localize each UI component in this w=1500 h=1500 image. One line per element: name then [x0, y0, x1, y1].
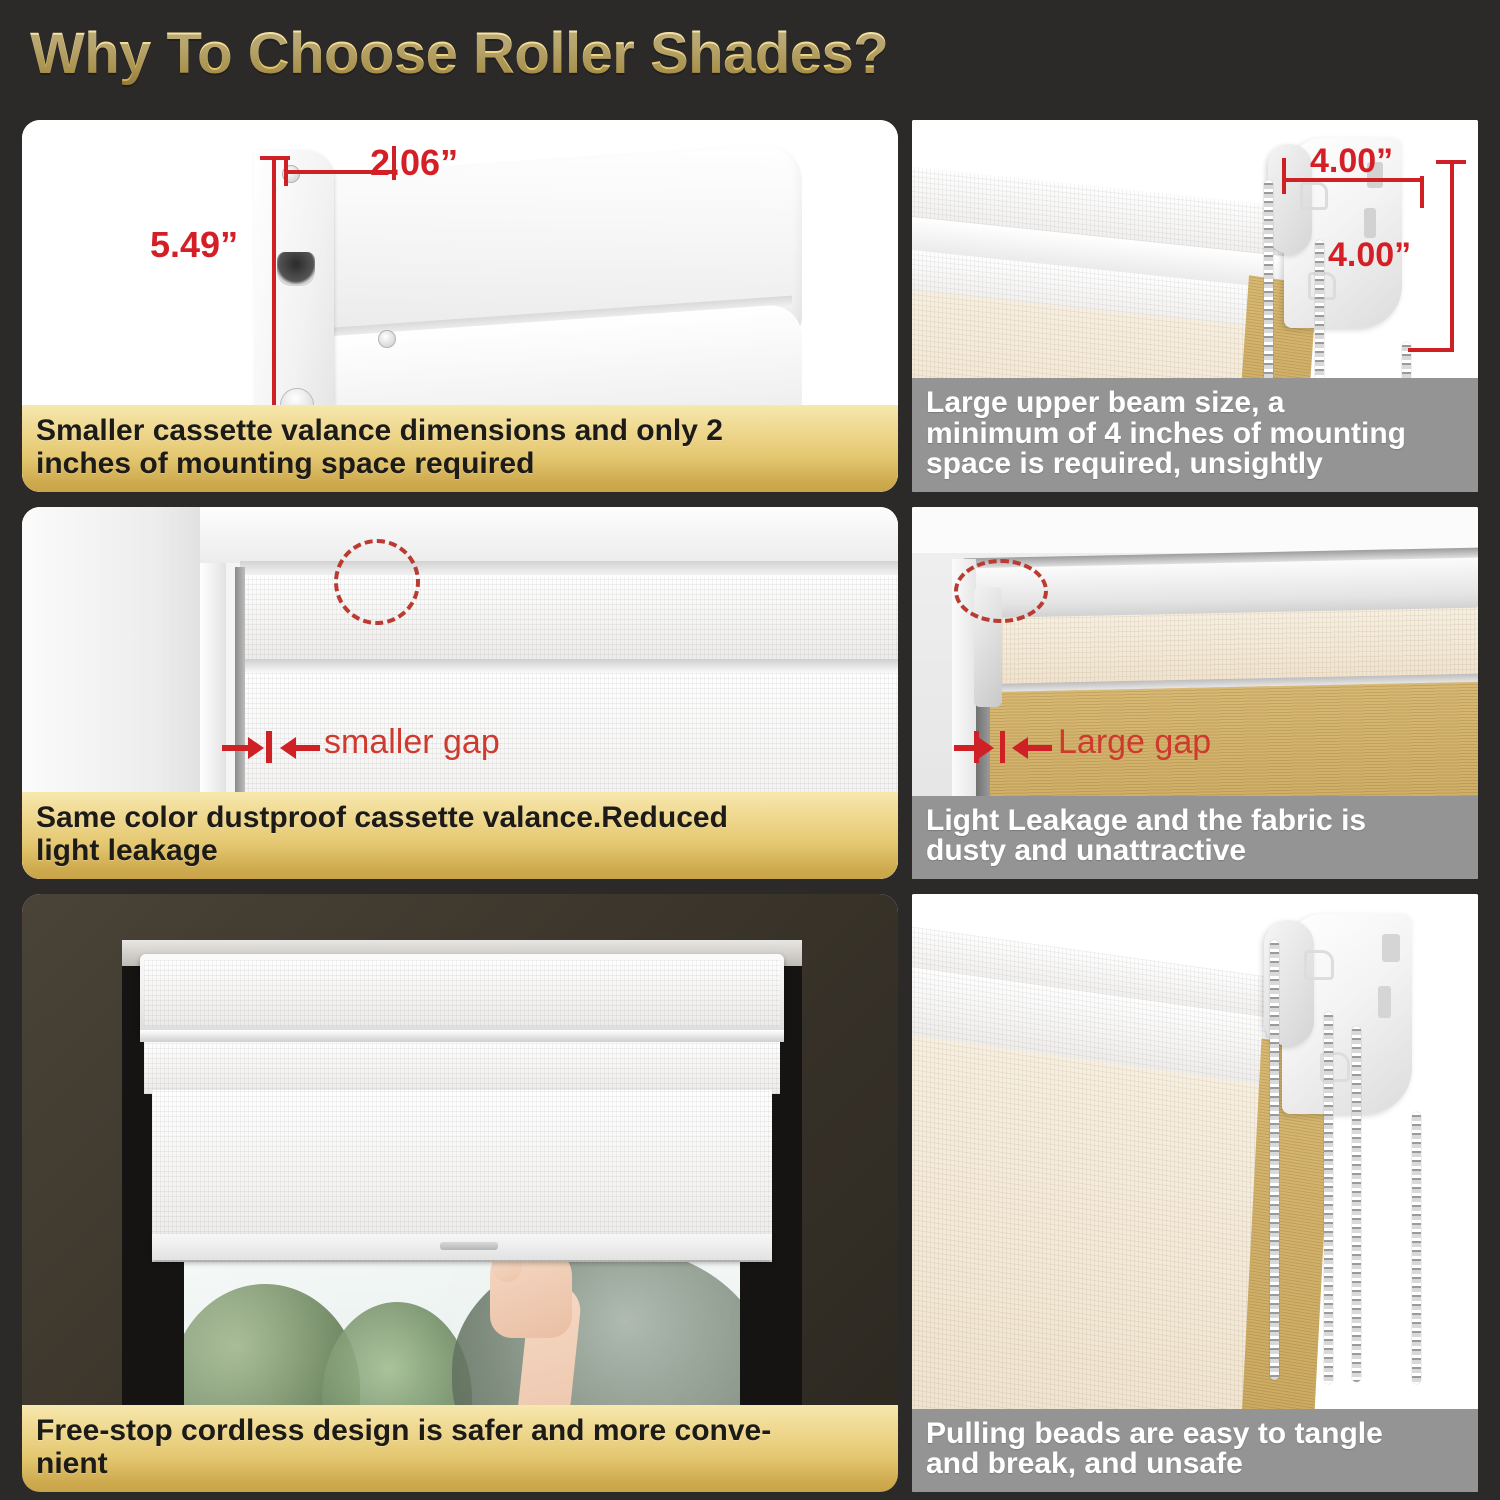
gap-marker-bar — [266, 731, 272, 763]
panel-3-photo: smaller gap Same color dustproof cassett… — [22, 507, 898, 879]
panel-6-photo: Pulling beads are easy to tangle and bre… — [912, 894, 1478, 1492]
height-dim-tick-top — [260, 156, 290, 160]
bead-chain-1 — [1270, 940, 1279, 1380]
beam-height-tick-bottom — [1408, 348, 1454, 352]
panel-cordless-design: Free-stop cordless design is safer and m… — [22, 894, 898, 1492]
panel-large-gap: Large gap Light Leakage and the fabric i… — [912, 507, 1478, 879]
beam-width-tick-right — [1420, 176, 1424, 208]
beam-height-tick-top — [1436, 160, 1466, 164]
panel-large-beam: 4.00” 4.00” Large upper beam size, a min… — [912, 120, 1478, 492]
chain-slot — [277, 252, 315, 286]
gap-arrow-right-shaft — [1026, 745, 1052, 751]
caption-line-3: space is required, unsightly — [926, 449, 1464, 480]
caption-line-2: minimum of 4 inches of mounting — [926, 419, 1464, 450]
panel-4-photo: Large gap Light Leakage and the fabric i… — [912, 507, 1478, 879]
gap-arrow-left-shaft — [222, 745, 250, 751]
caption-line-1: Same color dustproof cassette valance.Re… — [36, 802, 884, 834]
bracket-slot-2-icon — [1364, 208, 1376, 238]
width-dim-tick-left — [284, 158, 288, 186]
panel-5-photo: Free-stop cordless design is safer and m… — [22, 894, 898, 1492]
panel-1-photo: 2.06” 5.49” Smaller cassette valance dim… — [22, 120, 898, 492]
panel-3-caption: Same color dustproof cassette valance.Re… — [22, 792, 898, 879]
gap-label: Large gap — [1058, 723, 1211, 762]
bead-chain-2 — [1315, 240, 1324, 390]
infographic-page: Why To Choose Roller Shades? 2.06” — [0, 0, 1500, 1500]
panel-4-caption: Light Leakage and the fabric is dusty an… — [912, 796, 1478, 879]
bead-chain-2 — [1324, 1012, 1333, 1384]
width-dimension-label: 2.06” — [370, 142, 458, 184]
caption-line-2: and break, and unsafe — [926, 1449, 1464, 1480]
bottom-rail-grip — [440, 1242, 498, 1250]
beam-width-tick-left — [1282, 158, 1286, 194]
bead-chain-1 — [1264, 180, 1273, 385]
caption-line-1: Large upper beam size, a — [926, 388, 1464, 419]
bracket-slot-icon — [1382, 934, 1400, 962]
ceiling-band — [912, 507, 1478, 553]
caption-line-1: Pulling beads are easy to tangle — [926, 1419, 1464, 1450]
height-dim-line — [272, 158, 276, 438]
panel-5-caption: Free-stop cordless design is safer and m… — [22, 1405, 898, 1492]
panel-smaller-gap: smaller gap Same color dustproof cassett… — [22, 507, 898, 879]
bracket-hook-icon — [1300, 182, 1328, 210]
caption-line-1: Free-stop cordless design is safer and m… — [36, 1415, 884, 1447]
bead-chain-3 — [1352, 1026, 1361, 1382]
beam-width-label: 4.00” — [1310, 142, 1393, 181]
comparison-grid: 2.06” 5.49” Smaller cassette valance dim… — [0, 112, 1500, 1500]
panel-2-photo: 4.00” 4.00” Large upper beam size, a min… — [912, 120, 1478, 492]
window-frame-top — [200, 507, 898, 563]
panel-pulling-beads: Pulling beads are easy to tangle and bre… — [912, 894, 1478, 1492]
bead-chain-4 — [1412, 1112, 1421, 1384]
valance-fabric-face — [144, 960, 780, 1026]
beam-height-dim-line — [1450, 162, 1454, 352]
caption-line-2: nient — [36, 1448, 884, 1480]
valance-skirt — [144, 1042, 780, 1094]
valance-divider — [244, 659, 898, 673]
gap-arrow-right-shaft — [294, 745, 320, 751]
gap-arrow-left-head — [978, 737, 994, 759]
caption-line-2: dusty and unattractive — [926, 836, 1464, 867]
beam-height-label: 4.00” — [1328, 236, 1411, 275]
bracket-hook-icon — [1304, 950, 1334, 980]
gap-arrow-left-head — [248, 737, 264, 759]
panel-smaller-cassette: 2.06” 5.49” Smaller cassette valance dim… — [22, 120, 898, 492]
highlight-circle — [334, 539, 420, 625]
panel-1-caption: Smaller cassette valance dimensions and … — [22, 405, 898, 492]
caption-line-2: inches of mounting space required — [36, 448, 884, 480]
caption-line-1: Smaller cassette valance dimensions and … — [36, 415, 884, 447]
screw-mid-icon — [378, 330, 396, 348]
caption-line-1: Light Leakage and the fabric is — [926, 806, 1464, 837]
gap-marker-bar-2 — [1000, 731, 1005, 763]
height-dimension-label: 5.49” — [150, 224, 238, 266]
highlight-circle — [954, 559, 1048, 623]
panel-6-caption: Pulling beads are easy to tangle and bre… — [912, 1409, 1478, 1492]
gap-marker-bar-1 — [974, 731, 979, 763]
panel-2-caption: Large upper beam size, a minimum of 4 in… — [912, 378, 1478, 492]
gap-label: smaller gap — [324, 723, 500, 762]
bracket-slot-2-icon — [1378, 986, 1391, 1018]
page-title: Why To Choose Roller Shades? — [30, 20, 888, 87]
caption-line-2: light leakage — [36, 835, 884, 867]
valance-bottom-rail — [140, 1030, 784, 1042]
